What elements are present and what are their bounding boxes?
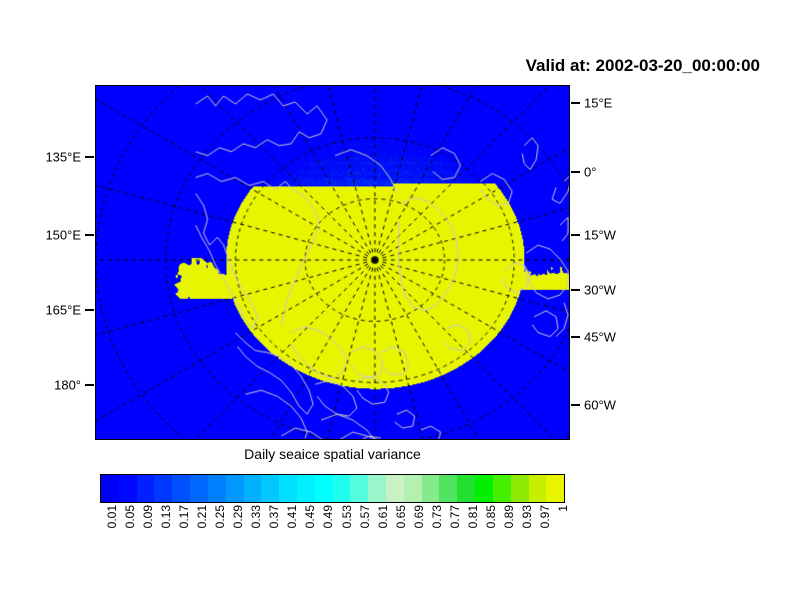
colorbar-tick-label: 0.01 (106, 505, 118, 528)
colorbar-gradient[interactable] (100, 474, 565, 503)
colorbar-tick-label: 0.33 (250, 505, 262, 528)
axis-tick-label: 135°E (45, 151, 81, 164)
axis-tick-label: 60°W (584, 399, 616, 412)
colorbar-tick-label: 0.89 (503, 505, 515, 528)
colorbar-tick-label: 0.17 (178, 505, 190, 528)
colorbar-swatch (333, 475, 351, 502)
colorbar-tick-labels: 0.010.050.090.130.170.210.250.290.330.37… (100, 505, 565, 565)
colorbar-swatch (350, 475, 368, 502)
colorbar-tick-label: 0.29 (232, 505, 244, 528)
colorbar-swatch (439, 475, 457, 502)
colorbar-tick-label: 0.61 (377, 505, 389, 528)
axis-tick (571, 102, 580, 104)
colorbar-tick-label: 0.69 (413, 505, 425, 528)
colorbar-tick-label: 0.65 (395, 505, 407, 528)
colorbar-swatch (404, 475, 422, 502)
axis-tick-label: 165°E (45, 304, 81, 317)
colorbar-tick-label: 0.73 (431, 505, 443, 528)
colorbar-swatch (475, 475, 493, 502)
colorbar-swatch (457, 475, 475, 502)
colorbar-swatch (368, 475, 386, 502)
axis-tick-label: 150°E (45, 229, 81, 242)
axis-tick (571, 289, 580, 291)
colorbar-swatch (226, 475, 244, 502)
colorbar-swatch (297, 475, 315, 502)
colorbar-swatch (546, 475, 564, 502)
colorbar-swatch (386, 475, 404, 502)
colorbar-swatch (529, 475, 547, 502)
colorbar-swatch (190, 475, 208, 502)
axis-tick-label: 45°W (584, 331, 616, 344)
colorbar-tick-label: 1 (557, 505, 569, 512)
colorbar-swatch (511, 475, 529, 502)
colorbar-tick-label: 0.05 (124, 505, 136, 528)
axis-tick (571, 234, 580, 236)
colorbar-tick-label: 0.97 (539, 505, 551, 528)
colorbar-swatch (493, 475, 511, 502)
map-panel[interactable] (95, 85, 570, 440)
colorbar-tick-label: 0.41 (286, 505, 298, 528)
axis-tick-label: 0° (584, 166, 596, 179)
colorbar-swatch (137, 475, 155, 502)
colorbar-tick-label: 0.21 (196, 505, 208, 528)
colorbar-swatch (261, 475, 279, 502)
axis-tick (85, 156, 94, 158)
axis-tick (571, 171, 580, 173)
colorbar-swatch (154, 475, 172, 502)
colorbar-tick-label: 0.81 (467, 505, 479, 528)
axis-tick (85, 234, 94, 236)
colorbar-tick-label: 0.93 (521, 505, 533, 528)
axis-tick (571, 336, 580, 338)
colorbar-tick-label: 0.25 (214, 505, 226, 528)
axis-tick-label: 15°E (584, 97, 612, 110)
axis-tick-label: 15°W (584, 229, 616, 242)
colorbar-tick-label: 0.77 (449, 505, 461, 528)
colorbar[interactable] (100, 474, 565, 503)
colorbar-tick-label: 0.85 (485, 505, 497, 528)
colorbar-swatch (172, 475, 190, 502)
colorbar-tick-label: 0.37 (268, 505, 280, 528)
colorbar-caption: Daily seaice spatial variance (95, 446, 570, 462)
axis-tick-label: 30°W (584, 284, 616, 297)
colorbar-swatch (315, 475, 333, 502)
colorbar-tick-label: 0.57 (359, 505, 371, 528)
colorbar-swatch (244, 475, 262, 502)
colorbar-tick-label: 0.09 (142, 505, 154, 528)
colorbar-swatch (119, 475, 137, 502)
colorbar-swatch (101, 475, 119, 502)
colorbar-tick-label: 0.53 (341, 505, 353, 528)
page-title: Valid at: 2002-03-20_00:00:00 (526, 56, 760, 76)
seaice-variance-heatmap[interactable] (96, 86, 569, 439)
axis-tick (85, 384, 94, 386)
colorbar-swatch (422, 475, 440, 502)
colorbar-tick-label: 0.49 (322, 505, 334, 528)
colorbar-swatch (279, 475, 297, 502)
colorbar-tick-label: 0.13 (160, 505, 172, 528)
axis-tick-label: 180° (54, 379, 81, 392)
colorbar-swatch (208, 475, 226, 502)
axis-tick (85, 309, 94, 311)
axis-tick (571, 404, 580, 406)
colorbar-tick-label: 0.45 (304, 505, 316, 528)
